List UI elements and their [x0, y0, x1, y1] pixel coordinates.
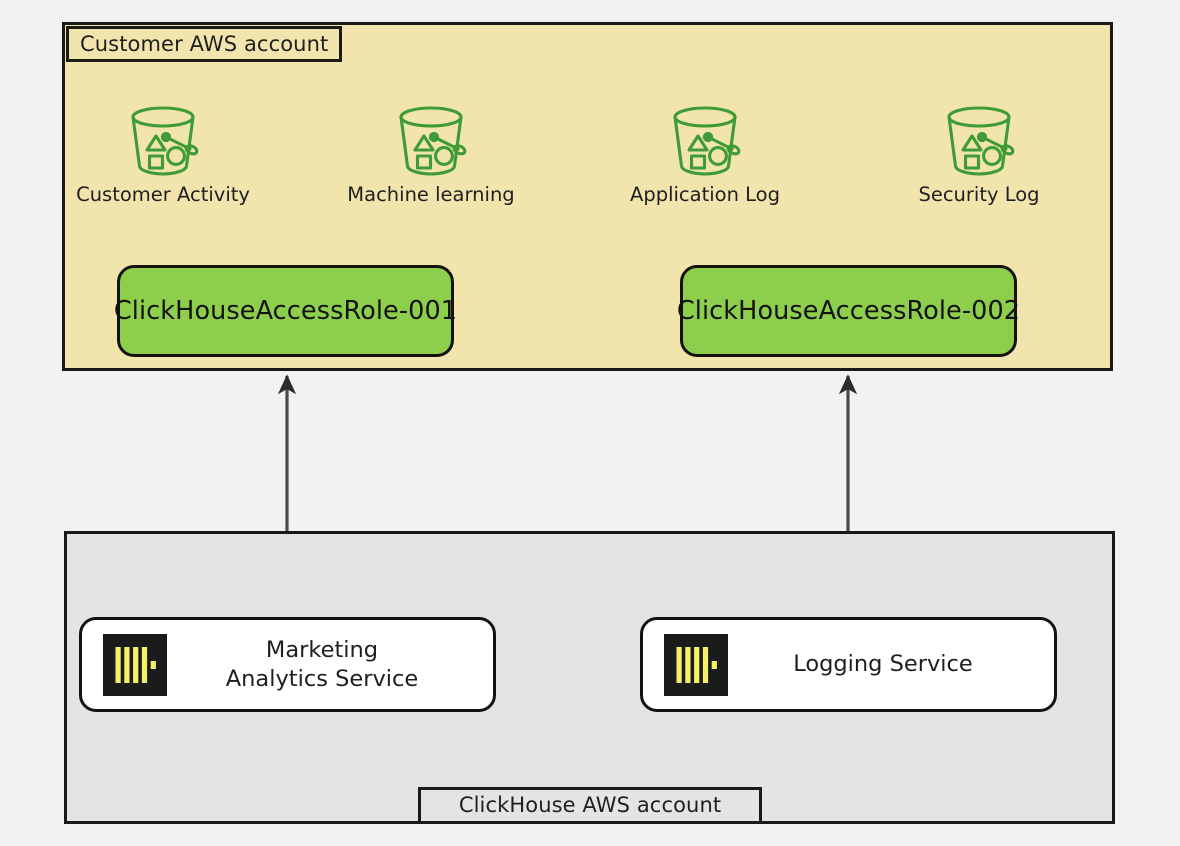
s3-bucket-icon — [383, 104, 479, 176]
s3-bucket-label: Application Log — [630, 184, 780, 205]
clickhouse-logo-icon — [103, 634, 167, 696]
s3-bucket-icon — [657, 104, 753, 176]
service-box-logging[interactable]: Logging Service — [640, 617, 1057, 712]
s3-bucket-customer-activity[interactable]: Customer Activity — [68, 104, 258, 205]
iam-role-label: ClickHouseAccessRole-001 — [114, 296, 457, 326]
service-box-marketing-analytics[interactable]: Marketing Analytics Service — [79, 617, 496, 712]
service-label: Logging Service — [728, 650, 1054, 679]
s3-bucket-security-log[interactable]: Security Log — [884, 104, 1074, 205]
s3-bucket-icon — [115, 104, 211, 176]
service-label: Marketing Analytics Service — [167, 636, 493, 694]
s3-bucket-application-log[interactable]: Application Log — [610, 104, 800, 205]
clickhouse-logo-icon — [664, 634, 728, 696]
s3-bucket-label: Customer Activity — [76, 184, 250, 205]
s3-bucket-label: Security Log — [918, 184, 1039, 205]
iam-role-label: ClickHouseAccessRole-002 — [677, 296, 1020, 326]
s3-bucket-machine-learning[interactable]: Machine learning — [336, 104, 526, 205]
customer-aws-account-label: Customer AWS account — [66, 26, 342, 62]
iam-role-box-001[interactable]: ClickHouseAccessRole-001 — [117, 265, 454, 357]
s3-bucket-label: Machine learning — [347, 184, 514, 205]
s3-bucket-icon — [931, 104, 1027, 176]
clickhouse-aws-account-label: ClickHouse AWS account — [418, 787, 762, 824]
iam-role-box-002[interactable]: ClickHouseAccessRole-002 — [680, 265, 1017, 357]
